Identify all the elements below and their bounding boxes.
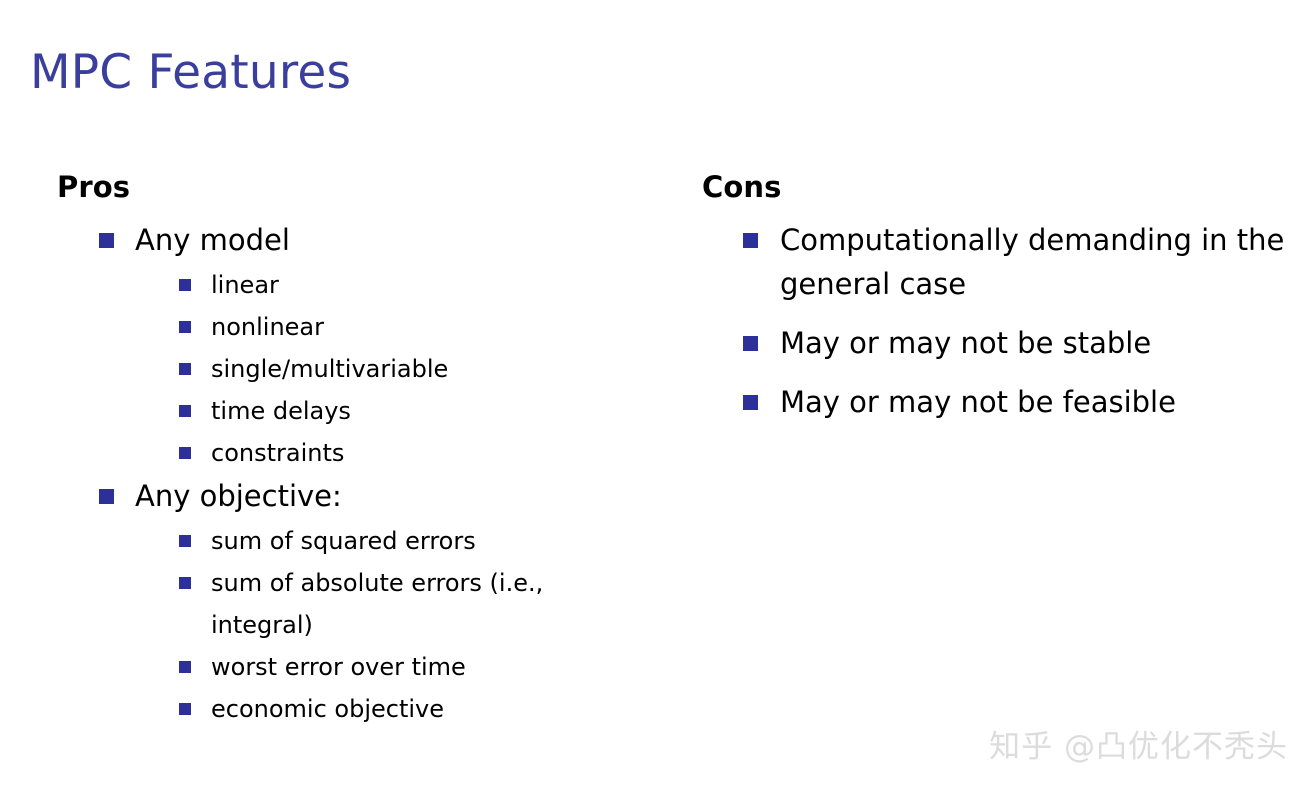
square-bullet-icon [179,447,191,459]
watermark: 知乎 @凸优化不秃头 [989,728,1288,766]
list-item-label: Any objective: [135,474,677,518]
list-item-label: Any model [135,218,677,262]
list-item: Any model [57,218,677,262]
pros-sublist-any-objective: sum of squared errors sum of absolute er… [57,520,677,730]
pros-column: Pros Any model linear nonlinear single/m… [57,170,677,730]
list-item: constraints [57,432,677,474]
square-bullet-icon [179,661,191,673]
list-item-label: constraints [211,432,677,474]
square-bullet-icon [99,233,114,248]
pros-list: Any model linear nonlinear single/multiv… [57,218,677,730]
list-item: May or may not be stable [702,321,1292,365]
list-item: linear [57,264,677,306]
list-item-label: sum of squared errors [211,520,677,562]
list-item-label: time delays [211,390,677,432]
list-item-label: May or may not be stable [780,321,1292,365]
square-bullet-icon [179,363,191,375]
list-item-label: linear [211,264,677,306]
cons-heading: Cons [702,170,1292,204]
pros-sublist-any-model: linear nonlinear single/multivariable ti… [57,264,677,474]
slide-canvas: MPC Features Pros Any model linear nonli… [0,0,1310,794]
square-bullet-icon [99,489,114,504]
square-bullet-icon [743,233,758,248]
list-item: time delays [57,390,677,432]
list-item: Computationally demanding in the general… [702,218,1292,306]
list-item: economic objective [57,688,677,730]
square-bullet-icon [179,279,191,291]
square-bullet-icon [179,577,191,589]
list-item: nonlinear [57,306,677,348]
square-bullet-icon [743,395,758,410]
cons-list: Computationally demanding in the general… [702,218,1292,424]
list-item: May or may not be feasible [702,380,1292,424]
list-item: single/multivariable [57,348,677,390]
list-item-label: worst error over time [211,646,677,688]
square-bullet-icon [743,336,758,351]
square-bullet-icon [179,321,191,333]
list-item-label: economic objective [211,688,677,730]
list-item: worst error over time [57,646,677,688]
page-title: MPC Features [30,43,351,103]
square-bullet-icon [179,535,191,547]
square-bullet-icon [179,703,191,715]
cons-column: Cons Computationally demanding in the ge… [702,170,1292,439]
list-item-label: sum of absolute errors (i.e., integral) [211,562,611,646]
square-bullet-icon [179,405,191,417]
list-item-label: single/multivariable [211,348,677,390]
list-item-label: Computationally demanding in the general… [780,218,1292,306]
pros-heading: Pros [57,170,677,204]
list-item-label: May or may not be feasible [780,380,1292,424]
list-item: sum of absolute errors (i.e., integral) [57,562,611,646]
list-item: Any objective: [57,474,677,518]
list-item: sum of squared errors [57,520,677,562]
list-item-label: nonlinear [211,306,677,348]
